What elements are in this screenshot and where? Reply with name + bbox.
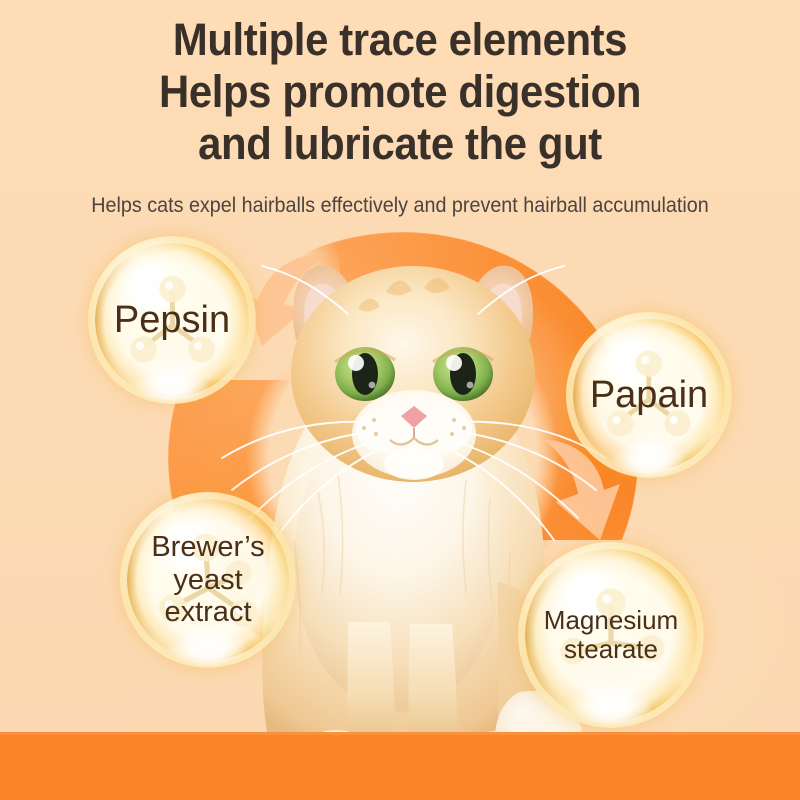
molecule-icon — [544, 568, 678, 702]
molecule-icon — [112, 260, 233, 381]
ingredient-bubble-papain: Papain — [566, 312, 732, 478]
ingredient-bubble-brewers-yeast-extract: Brewer’s yeast extract — [120, 492, 296, 668]
product-poster: Multiple trace elements Helps promote di… — [0, 0, 800, 800]
headline-line-3: and lubricate the gut — [28, 118, 772, 170]
bottom-orange-bar — [0, 732, 800, 800]
molecule-icon — [145, 517, 272, 644]
headline-line-1: Multiple trace elements — [28, 14, 772, 66]
molecule-icon — [589, 335, 709, 455]
headline-line-2: Helps promote digestion — [28, 66, 772, 118]
ingredient-bubble-pepsin: Pepsin — [88, 236, 256, 404]
subheadline: Helps cats expel hairballs effectively a… — [24, 193, 776, 219]
headline: Multiple trace elements Helps promote di… — [28, 14, 772, 170]
ingredient-bubble-magnesium-stearate: Magnesium stearate — [518, 542, 704, 728]
